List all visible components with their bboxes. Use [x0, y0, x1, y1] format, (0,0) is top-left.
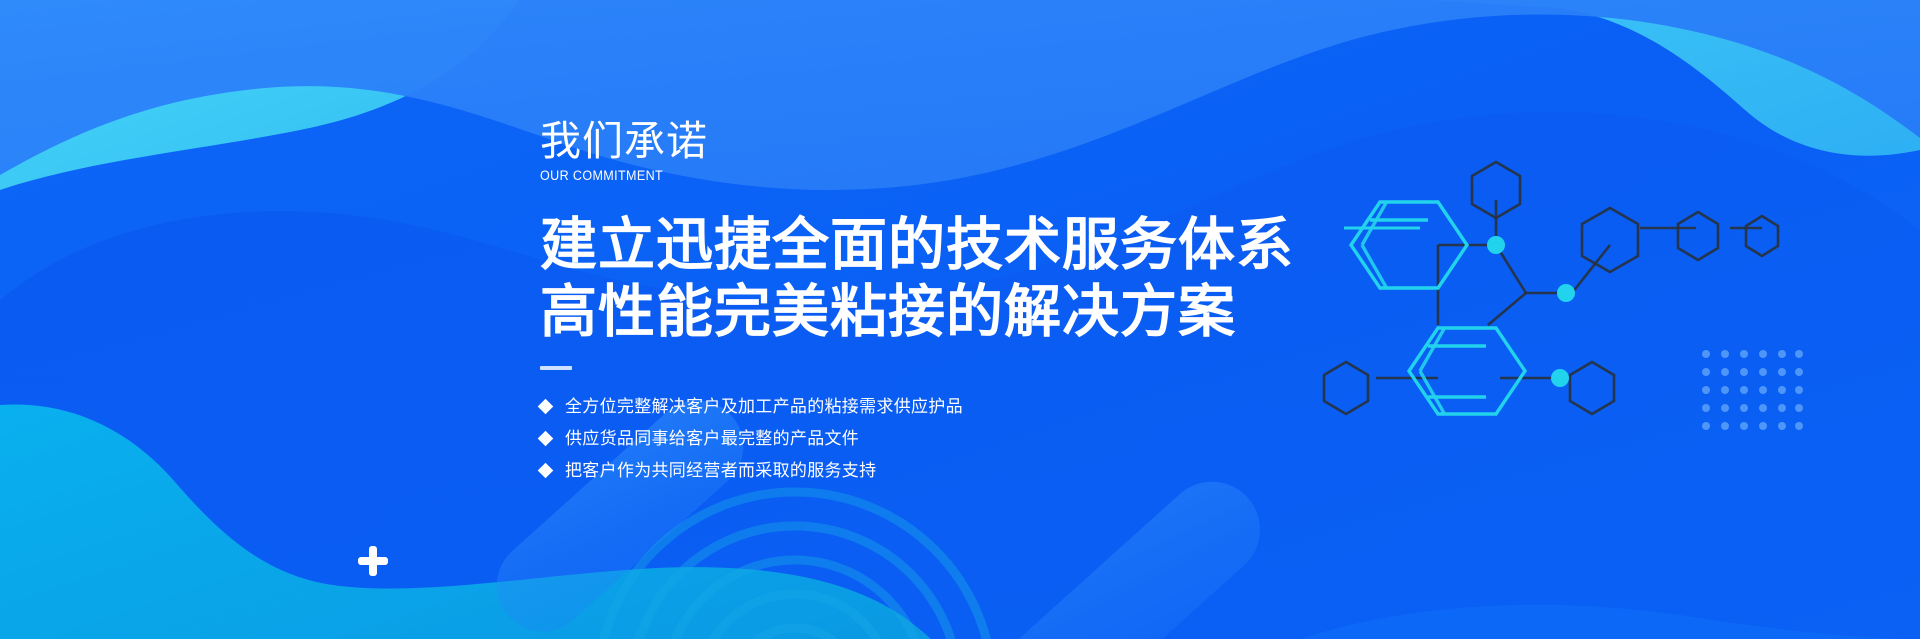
benzene-ring-cyan	[1344, 202, 1525, 414]
banner-content: 我们承诺 OUR COMMITMENT 建立迅捷全面的技术服务体系 高性能完美粘…	[540, 120, 1340, 498]
list-item-label: 全方位完整解决客户及加工产品的粘接需求供应护品	[565, 396, 963, 417]
diamond-bullet-icon	[538, 463, 554, 479]
eyebrow-title-en: OUR COMMITMENT	[540, 168, 1284, 183]
commitment-list: 全方位完整解决客户及加工产品的粘接需求供应护品 供应货品同事给客户最完整的产品文…	[540, 396, 1340, 482]
plus-icon	[358, 546, 388, 576]
list-item-label: 把客户作为共同经营者而采取的服务支持	[565, 460, 876, 481]
bond-node-dot	[1487, 236, 1575, 387]
list-item: 全方位完整解决客户及加工产品的粘接需求供应护品	[540, 396, 1340, 417]
list-item: 供应货品同事给客户最完整的产品文件	[540, 428, 1340, 449]
list-item-label: 供应货品同事给客户最完整的产品文件	[565, 428, 859, 449]
headline-line-2: 高性能完美粘接的解决方案	[540, 279, 1340, 346]
diamond-bullet-icon	[538, 399, 554, 415]
dot-grid-pattern	[1700, 348, 1804, 432]
headline: 建立迅捷全面的技术服务体系 高性能完美粘接的解决方案	[540, 212, 1340, 345]
headline-line-1: 建立迅捷全面的技术服务体系	[540, 212, 1340, 279]
diamond-bullet-icon	[538, 431, 554, 447]
eyebrow-title-cn: 我们承诺	[540, 120, 1340, 163]
divider-rule	[540, 366, 572, 370]
list-item: 把客户作为共同经营者而采取的服务支持	[540, 460, 1340, 481]
promo-banner: 我们承诺 OUR COMMITMENT 建立迅捷全面的技术服务体系 高性能完美粘…	[0, 0, 1920, 639]
